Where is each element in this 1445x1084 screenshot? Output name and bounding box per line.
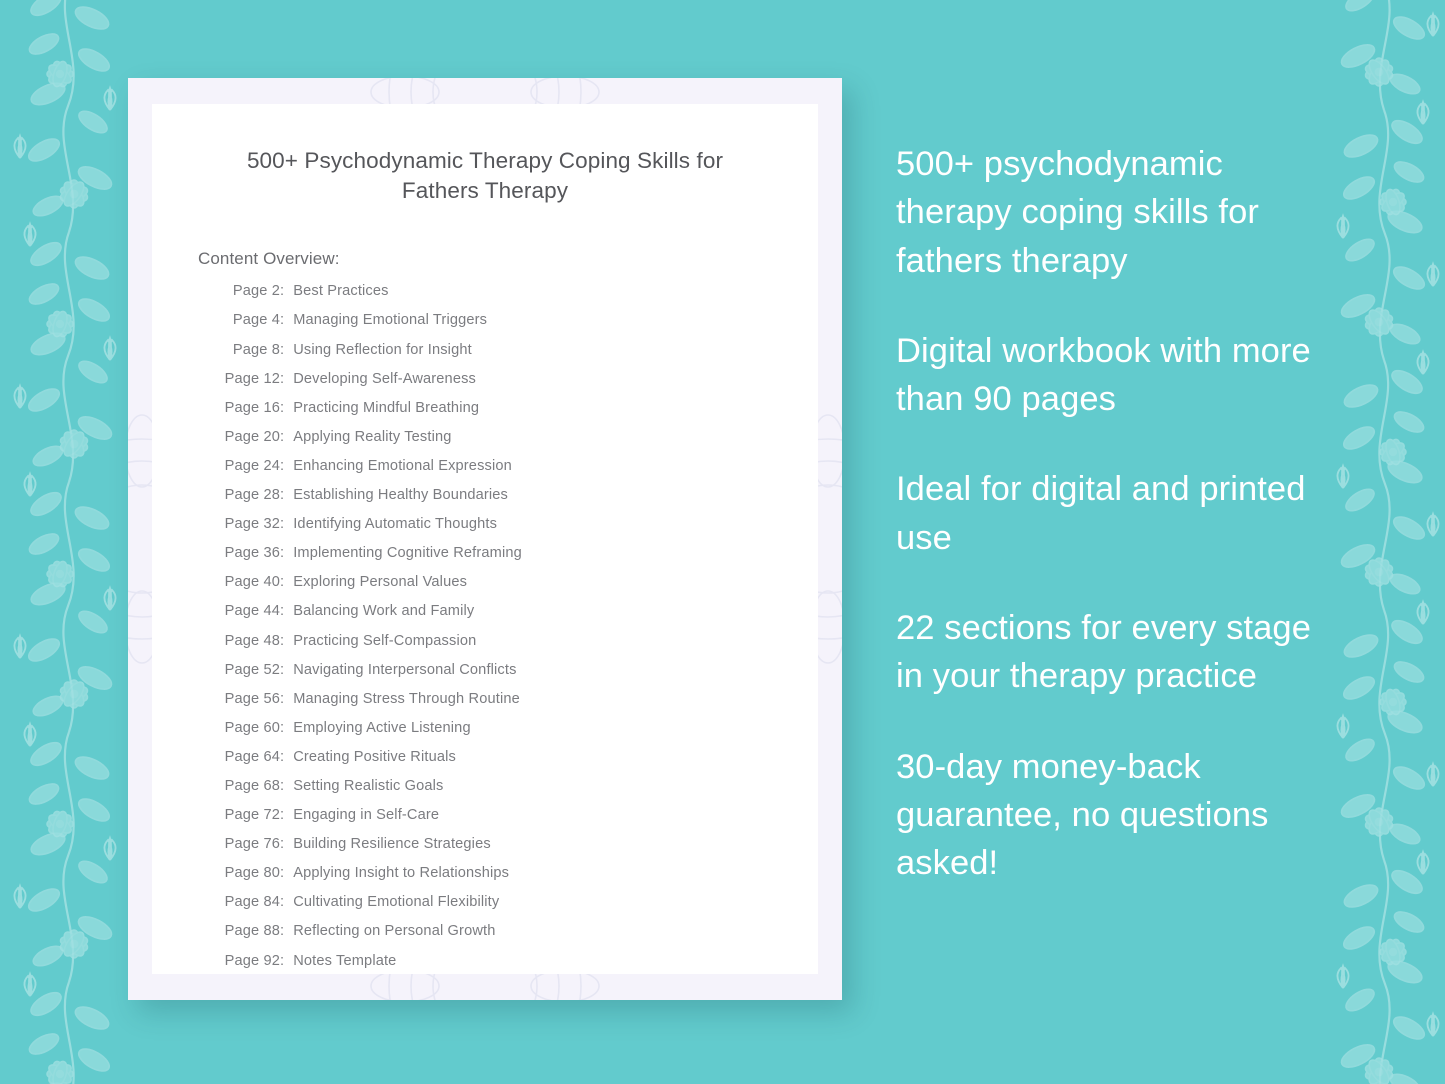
toc-entry: Page 24:Enhancing Emotional Expression xyxy=(152,458,818,487)
toc-entry-title: Reflecting on Personal Growth xyxy=(293,923,495,939)
toc-entry-page: Page 16 xyxy=(222,400,280,416)
toc-entry-separator: : xyxy=(280,603,293,619)
toc-entry-page: Page 64 xyxy=(222,749,280,765)
toc-entry-separator: : xyxy=(280,283,293,299)
toc-entry: Page 16:Practicing Mindful Breathing xyxy=(152,400,818,429)
toc-entry: Page 88:Reflecting on Personal Growth xyxy=(152,923,818,952)
toc-entry-title: Setting Realistic Goals xyxy=(293,778,443,794)
toc-entry-page: Page 48 xyxy=(222,633,280,649)
toc-entry-title: Applying Insight to Relationships xyxy=(293,865,509,881)
toc-entry-separator: : xyxy=(280,342,293,358)
toc-entry: Page 36:Implementing Cognitive Reframing xyxy=(152,545,818,574)
toc-entry-separator: : xyxy=(280,371,293,387)
floral-border-right xyxy=(1309,0,1445,1084)
toc-entry-separator: : xyxy=(280,691,293,707)
toc-entry-page: Page 80 xyxy=(222,865,280,881)
toc-entry-separator: : xyxy=(280,633,293,649)
toc-entry: Page 76:Building Resilience Strategies xyxy=(152,836,818,865)
toc-entry-title: Employing Active Listening xyxy=(293,720,471,736)
toc-entry-page: Page 24 xyxy=(222,458,280,474)
toc-entry-page: Page 52 xyxy=(222,662,280,678)
toc-entry: Page 92:Notes Template xyxy=(152,953,818,982)
workbook-page: 500+ Psychodynamic Therapy Coping Skills… xyxy=(152,104,818,974)
toc-entry-separator: : xyxy=(280,312,293,328)
toc-entry-title: Exploring Personal Values xyxy=(293,574,467,590)
toc-entry-page: Page 68 xyxy=(222,778,280,794)
marketing-line: 22 sections for every stage in your ther… xyxy=(896,604,1326,701)
toc-entry-page: Page 12 xyxy=(222,371,280,387)
toc-entry-separator: : xyxy=(280,400,293,416)
toc-entry-separator: : xyxy=(280,458,293,474)
toc-entry-page: Page 36 xyxy=(222,545,280,561)
toc-entry-title: Building Resilience Strategies xyxy=(293,836,491,852)
toc-entry-title: Applying Reality Testing xyxy=(293,429,451,445)
toc-entry: Page 60:Employing Active Listening xyxy=(152,720,818,749)
toc-entry-separator: : xyxy=(280,662,293,678)
toc-entry-title: Best Practices xyxy=(293,283,388,299)
toc-entry-title: Cultivating Emotional Flexibility xyxy=(293,894,499,910)
toc-entry-separator: : xyxy=(280,720,293,736)
toc-entry: Page 8:Using Reflection for Insight xyxy=(152,342,818,371)
toc-entry-title: Identifying Automatic Thoughts xyxy=(293,516,497,532)
toc-entry: Page 40:Exploring Personal Values xyxy=(152,574,818,603)
toc-entry-page: Page 84 xyxy=(222,894,280,910)
floral-border-left xyxy=(0,0,144,1084)
workbook-preview-card: 500+ Psychodynamic Therapy Coping Skills… xyxy=(128,78,842,1000)
toc-entry-title: Implementing Cognitive Reframing xyxy=(293,545,522,561)
toc-entry-separator: : xyxy=(280,487,293,503)
toc-entry-page: Page 60 xyxy=(222,720,280,736)
marketing-line: Ideal for digital and printed use xyxy=(896,465,1326,562)
toc-entry-page: Page 28 xyxy=(222,487,280,503)
toc-entry: Page 64:Creating Positive Rituals xyxy=(152,749,818,778)
toc-entry-page: Page 40 xyxy=(222,574,280,590)
toc-entry-page: Page 92 xyxy=(222,953,280,969)
toc-entry-separator: : xyxy=(280,749,293,765)
toc-entry-title: Engaging in Self-Care xyxy=(293,807,439,823)
toc-entry-separator: : xyxy=(280,865,293,881)
toc-entry-title: Establishing Healthy Boundaries xyxy=(293,487,508,503)
toc-entry-page: Page 56 xyxy=(222,691,280,707)
toc-entry-page: Page 8 xyxy=(222,342,280,358)
toc-entry-separator: : xyxy=(280,923,293,939)
toc-entry-page: Page 88 xyxy=(222,923,280,939)
toc-entry: Page 52:Navigating Interpersonal Conflic… xyxy=(152,662,818,691)
toc-entry-title: Practicing Mindful Breathing xyxy=(293,400,479,416)
toc-entry-separator: : xyxy=(280,429,293,445)
toc-entry: Page 48:Practicing Self-Compassion xyxy=(152,633,818,662)
toc-entry-page: Page 76 xyxy=(222,836,280,852)
toc-entry: Page 44:Balancing Work and Family xyxy=(152,603,818,632)
toc-entry: Page 68:Setting Realistic Goals xyxy=(152,778,818,807)
toc-entry: Page 12:Developing Self-Awareness xyxy=(152,371,818,400)
marketing-copy: 500+ psychodynamic therapy coping skills… xyxy=(896,140,1326,888)
toc-entry-separator: : xyxy=(280,574,293,590)
toc-entry-title: Managing Stress Through Routine xyxy=(293,691,520,707)
toc-entry-separator: : xyxy=(280,545,293,561)
toc-entry-separator: : xyxy=(280,894,293,910)
toc-entry-page: Page 20 xyxy=(222,429,280,445)
page-title: 500+ Psychodynamic Therapy Coping Skills… xyxy=(152,104,818,205)
table-of-contents: Page 2:Best PracticesPage 4:Managing Emo… xyxy=(152,269,818,981)
toc-entry-page: Page 72 xyxy=(222,807,280,823)
toc-entry-title: Notes Template xyxy=(293,953,396,969)
marketing-line: 500+ psychodynamic therapy coping skills… xyxy=(896,140,1326,285)
toc-entry-separator: : xyxy=(280,953,293,969)
toc-entry-title: Using Reflection for Insight xyxy=(293,342,472,358)
toc-entry-title: Managing Emotional Triggers xyxy=(293,312,487,328)
toc-entry: Page 80:Applying Insight to Relationship… xyxy=(152,865,818,894)
toc-entry-page: Page 4 xyxy=(222,312,280,328)
toc-entry-title: Enhancing Emotional Expression xyxy=(293,458,512,474)
toc-entry-page: Page 32 xyxy=(222,516,280,532)
toc-entry-separator: : xyxy=(280,516,293,532)
toc-entry: Page 20:Applying Reality Testing xyxy=(152,429,818,458)
toc-entry: Page 4:Managing Emotional Triggers xyxy=(152,312,818,341)
toc-entry-title: Navigating Interpersonal Conflicts xyxy=(293,662,516,678)
toc-entry: Page 56:Managing Stress Through Routine xyxy=(152,691,818,720)
content-overview-label: Content Overview: xyxy=(152,205,818,269)
toc-entry-title: Creating Positive Rituals xyxy=(293,749,456,765)
marketing-line: 30-day money-back guarantee, no question… xyxy=(896,743,1326,888)
toc-entry: Page 32:Identifying Automatic Thoughts xyxy=(152,516,818,545)
toc-entry-separator: : xyxy=(280,836,293,852)
toc-entry: Page 28:Establishing Healthy Boundaries xyxy=(152,487,818,516)
toc-entry-title: Developing Self-Awareness xyxy=(293,371,476,387)
toc-entry-separator: : xyxy=(280,807,293,823)
toc-entry-title: Practicing Self-Compassion xyxy=(293,633,476,649)
toc-entry-separator: : xyxy=(280,778,293,794)
toc-entry-page: Page 44 xyxy=(222,603,280,619)
toc-entry: Page 2:Best Practices xyxy=(152,283,818,312)
toc-entry-title: Balancing Work and Family xyxy=(293,603,474,619)
toc-entry: Page 84:Cultivating Emotional Flexibilit… xyxy=(152,894,818,923)
toc-entry: Page 72:Engaging in Self-Care xyxy=(152,807,818,836)
toc-entry-page: Page 2 xyxy=(222,283,280,299)
marketing-line: Digital workbook with more than 90 pages xyxy=(896,327,1326,424)
